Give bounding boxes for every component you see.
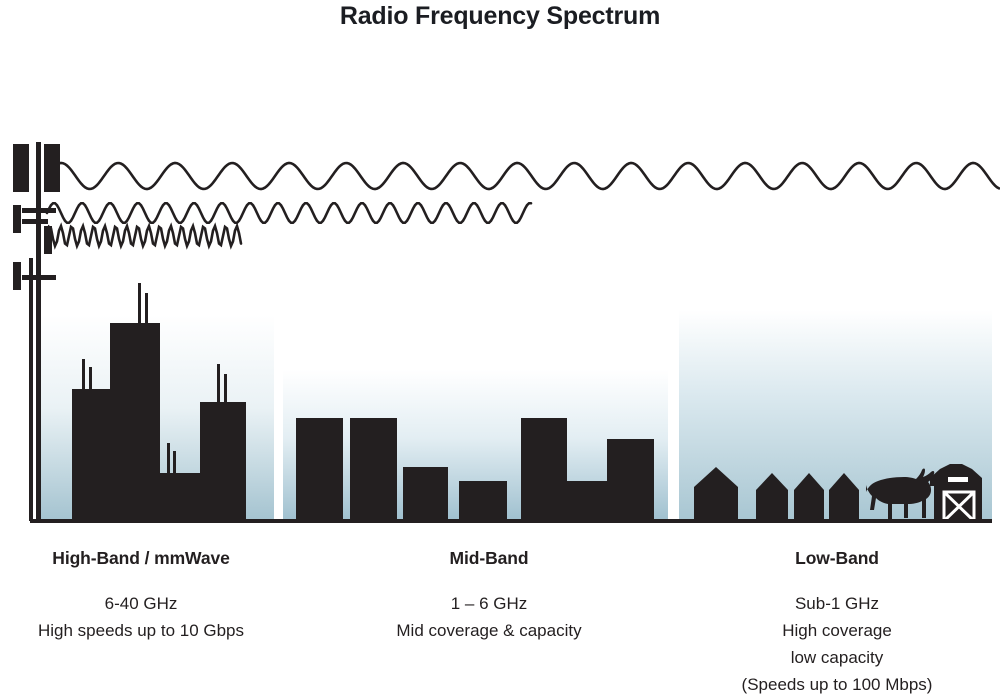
ground-line (30, 519, 992, 523)
building-spire (82, 359, 85, 389)
building-spire (145, 293, 148, 323)
city-building (72, 389, 110, 521)
building-spire (217, 364, 220, 402)
building-spire (173, 451, 176, 473)
low-frequency-wave (47, 163, 999, 189)
building-spire (138, 283, 141, 323)
band-description-high-band: 6-40 GHz High speeds up to 10 Gbps (0, 590, 282, 644)
tower-panel-top-left (13, 144, 29, 192)
high-frequency-wave (47, 226, 241, 246)
suburban-building (607, 439, 654, 521)
band-description-mid-band: 1 – 6 GHz Mid coverage & capacity (349, 590, 629, 644)
band-desc-line: low capacity (697, 644, 977, 671)
radio-waves (47, 163, 999, 246)
band-desc-line: High speeds up to 10 Gbps (0, 617, 282, 644)
tower-panel-mid-right (44, 226, 52, 254)
suburban-building (403, 467, 448, 521)
tower-mast (36, 142, 41, 521)
building-spire (224, 374, 227, 402)
suburban-building (350, 418, 397, 521)
band-desc-line: Mid coverage & capacity (349, 617, 629, 644)
building-spire (89, 367, 92, 389)
tower-panel-mid-left (13, 205, 21, 233)
band-label-high-band: High-Band / mmWave (0, 548, 282, 569)
tower-panel-low-left (13, 262, 21, 290)
band-desc-line: (Speeds up to 100 Mbps) (697, 671, 977, 698)
band-label-mid-band: Mid-Band (349, 548, 629, 569)
band-description-low-band: Sub-1 GHz High coverage low capacity (Sp… (697, 590, 977, 698)
tower-crossbar-upper (22, 208, 56, 213)
barn-hayloft-slot (948, 477, 968, 482)
suburban-building (521, 418, 567, 521)
mid-frequency-wave (47, 203, 531, 223)
band-desc-line: High coverage (697, 617, 977, 644)
city-building (200, 402, 246, 521)
suburban-building (296, 418, 343, 521)
suburban-building (459, 481, 507, 521)
infographic-canvas: Radio Frequency Spectrum (0, 0, 1000, 700)
band-label-low-band: Low-Band (697, 548, 977, 569)
tower-panel-top-right (44, 144, 60, 192)
tower-crossbar-lower (22, 275, 56, 280)
tower-mast-secondary (29, 258, 33, 521)
barn-icon (930, 464, 982, 521)
building-spire (167, 443, 170, 473)
band-desc-line: 6-40 GHz (0, 590, 282, 617)
city-building (110, 323, 160, 521)
tower-crossbar-upper-2 (22, 219, 48, 224)
city-building (160, 473, 200, 521)
band-desc-line: 1 – 6 GHz (349, 590, 629, 617)
band-desc-line: Sub-1 GHz (697, 590, 977, 617)
